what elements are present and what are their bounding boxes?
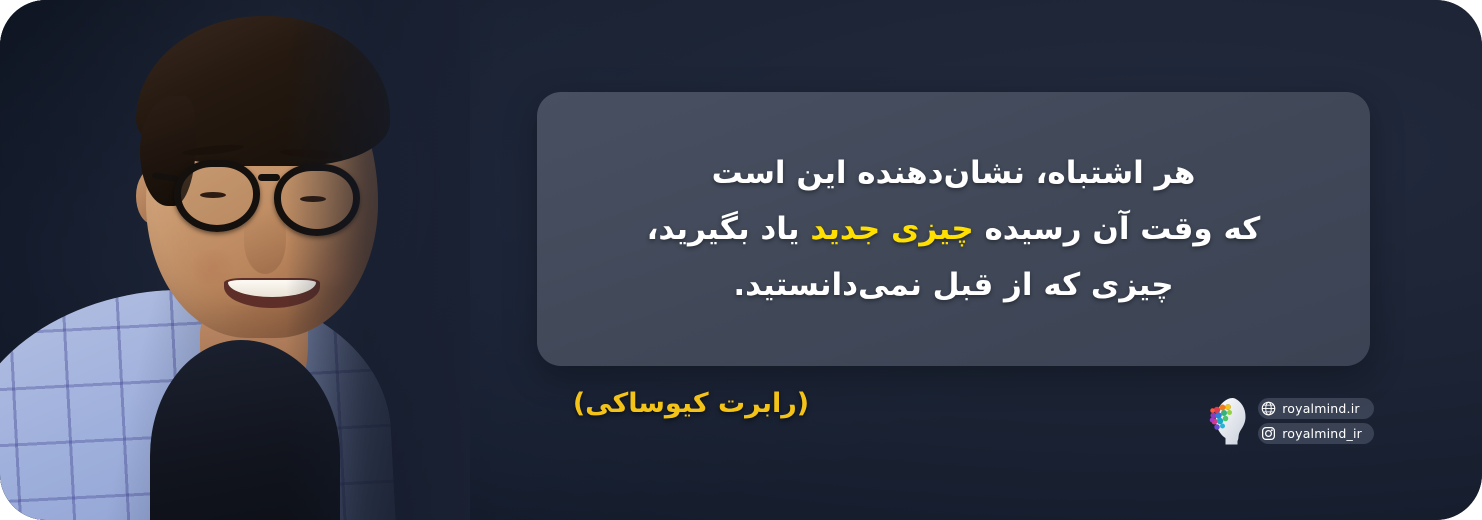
quote-line-3: چیزی که از قبل نمی‌دانستید. bbox=[733, 260, 1173, 310]
quote-line-3-text: چیزی که از قبل نمی‌دانستید. bbox=[733, 267, 1173, 303]
quote-card: هر اشتباه، نشان‌دهنده این است که وقت آن … bbox=[537, 92, 1370, 366]
handle-instagram[interactable]: royalmind_ir bbox=[1258, 423, 1374, 444]
quote-attribution: (رابرت کیوساکی) bbox=[536, 388, 846, 419]
handle-website[interactable]: royalmind.ir bbox=[1258, 398, 1374, 419]
quote-line-2-pre: که وقت آن رسیده bbox=[974, 211, 1261, 247]
globe-icon bbox=[1261, 401, 1276, 416]
portrait-photo bbox=[0, 0, 470, 520]
eye-left bbox=[200, 192, 226, 198]
instagram-icon bbox=[1261, 426, 1276, 441]
quote-banner: هر اشتباه، نشان‌دهنده این است که وقت آن … bbox=[0, 0, 1482, 520]
chin bbox=[224, 306, 302, 342]
quote-line-1: هر اشتباه، نشان‌دهنده این است bbox=[712, 148, 1196, 198]
quote-line-1-text: هر اشتباه، نشان‌دهنده این است bbox=[712, 155, 1196, 191]
handle-website-label: royalmind.ir bbox=[1282, 401, 1360, 416]
eye-right bbox=[300, 196, 326, 202]
quote-highlight: چیزی جدید bbox=[810, 211, 973, 247]
social-handles: royalmind.ir royalmind_ir bbox=[1258, 398, 1374, 444]
glasses-bridge bbox=[258, 174, 280, 181]
quote-line-2: که وقت آن رسیده چیزی جدید یاد بگیرید، bbox=[647, 204, 1261, 254]
brand-block: royalmind.ir royalmind_ir bbox=[1209, 396, 1374, 446]
handle-instagram-label: royalmind_ir bbox=[1282, 426, 1362, 441]
head-brain-logo bbox=[1209, 396, 1247, 446]
teeth bbox=[228, 280, 316, 297]
quote-line-2-post: یاد بگیرید، bbox=[647, 211, 811, 247]
